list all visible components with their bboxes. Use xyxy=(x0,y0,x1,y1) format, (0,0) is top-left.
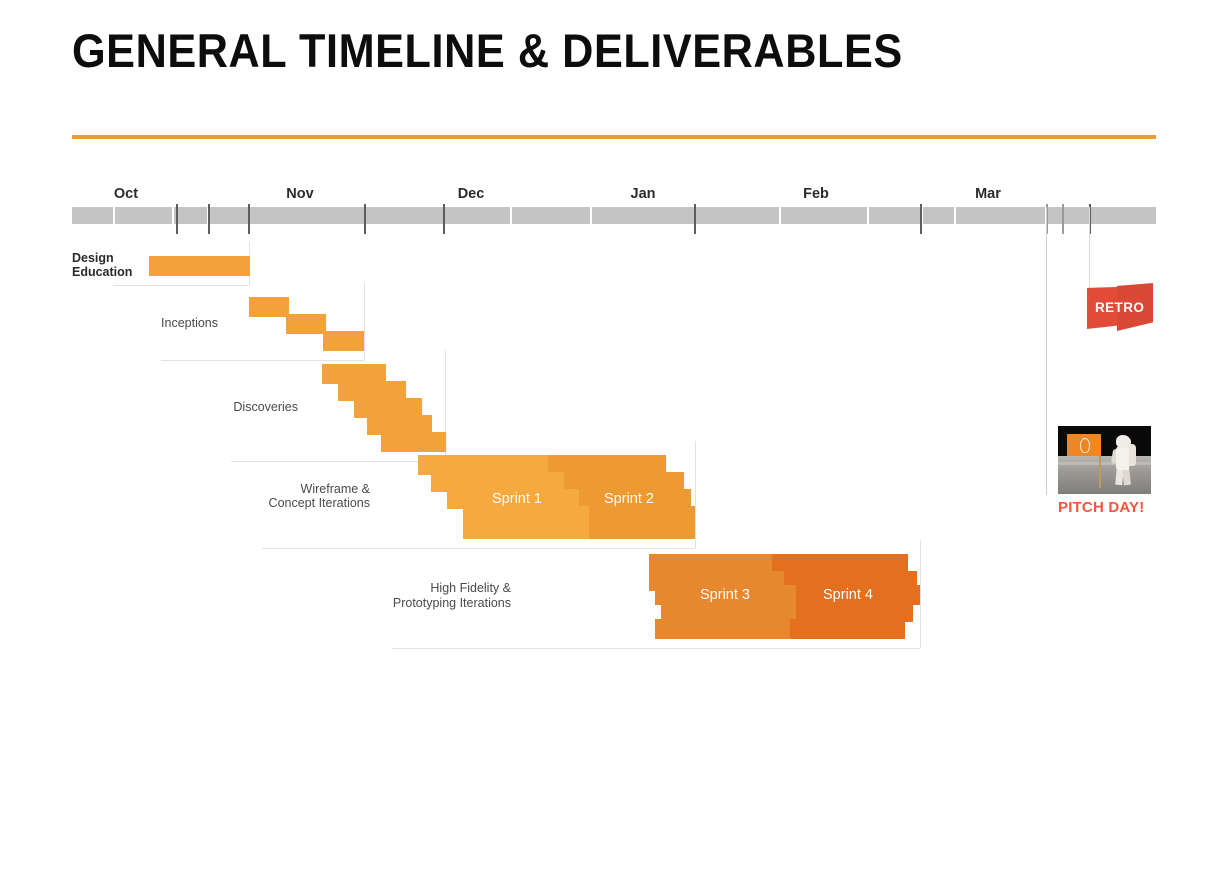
row-label-design-education: Design Education xyxy=(72,251,152,280)
row-bracket-bottom xyxy=(161,360,364,361)
gantt-bar xyxy=(286,314,326,334)
axis-segment-divider xyxy=(779,207,781,224)
sprint-label: Sprint 3 xyxy=(700,587,750,603)
orange-flag-icon xyxy=(1067,434,1101,456)
row-bracket-right xyxy=(920,540,921,648)
axis-month-feb: Feb xyxy=(776,186,856,202)
axis-month-mar: Mar xyxy=(948,186,1028,202)
row-label-inceptions: Inceptions xyxy=(0,316,218,331)
axis-tick xyxy=(364,204,366,234)
axis-month-oct: Oct xyxy=(86,186,166,202)
guide-line-retro xyxy=(1089,207,1090,291)
flag-emblem-icon xyxy=(1080,438,1090,453)
sprint-label: Sprint 2 xyxy=(604,491,654,507)
astronaut-torso xyxy=(1116,446,1129,470)
pitch-day-photo xyxy=(1058,426,1151,494)
axis-tick xyxy=(208,204,210,234)
row-bracket-right xyxy=(364,283,365,360)
row-label-high-fidelity-prototyping-iterations: High Fidelity & Prototyping Iterations xyxy=(271,581,511,610)
pitch-day-label: PITCH DAY! xyxy=(1058,499,1144,516)
axis-month-dec: Dec xyxy=(431,186,511,202)
axis-segment-divider xyxy=(954,207,956,224)
gantt-bar xyxy=(249,297,289,317)
gantt-bar xyxy=(655,619,790,639)
axis-segment-divider xyxy=(590,207,592,224)
sprint-label: Sprint 1 xyxy=(492,491,542,507)
accent-divider xyxy=(72,135,1156,139)
row-label-discoveries: Discoveries xyxy=(58,400,298,415)
astronaut-helmet xyxy=(1116,435,1131,448)
axis-month-nov: Nov xyxy=(260,186,340,202)
retro-label: RETRO xyxy=(1095,300,1144,315)
moon-surface xyxy=(1058,456,1151,494)
gantt-bar xyxy=(149,256,250,276)
slide-canvas: GENERAL TIMELINE & DELIVERABLES OctNovDe… xyxy=(0,0,1230,876)
axis-tick xyxy=(248,204,250,234)
axis-tick xyxy=(443,204,445,234)
timeline-axis-bar xyxy=(72,207,1156,224)
row-bracket-bottom xyxy=(262,548,695,549)
gantt-bar xyxy=(381,432,446,452)
axis-segment-divider xyxy=(113,207,115,224)
axis-month-jan: Jan xyxy=(603,186,683,202)
row-label-wireframe-concept-iterations: Wireframe & Concept Iterations xyxy=(130,482,370,511)
row-bracket-bottom xyxy=(231,461,445,462)
sprint-label: Sprint 4 xyxy=(823,587,873,603)
axis-tick xyxy=(176,204,178,234)
axis-tick xyxy=(694,204,696,234)
page-title: GENERAL TIMELINE & DELIVERABLES xyxy=(72,22,903,80)
axis-segment-divider xyxy=(510,207,512,224)
row-bracket-right xyxy=(695,441,696,548)
guide-line-pitch xyxy=(1046,207,1047,495)
axis-tick xyxy=(920,204,922,234)
gantt-bar xyxy=(790,619,905,639)
gantt-bar xyxy=(323,331,364,351)
axis-segment-divider xyxy=(172,207,174,224)
gantt-bar xyxy=(589,519,695,539)
gantt-bar xyxy=(463,519,589,539)
row-bracket-bottom xyxy=(113,285,249,286)
axis-tick xyxy=(1062,204,1064,234)
axis-segment-divider xyxy=(867,207,869,224)
row-bracket-bottom xyxy=(392,648,920,649)
